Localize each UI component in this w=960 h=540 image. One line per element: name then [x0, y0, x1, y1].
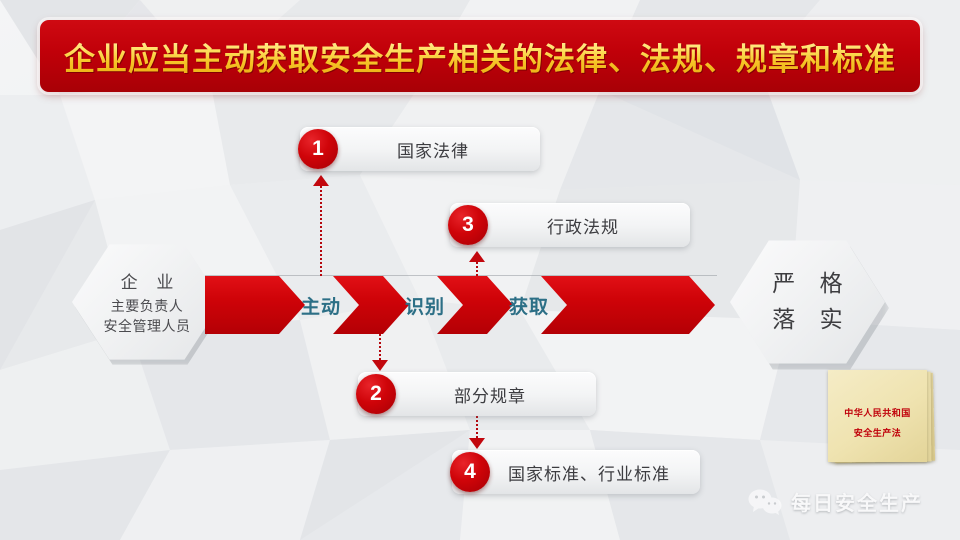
left-hexagon-title: 企 业	[114, 268, 181, 293]
right-hexagon-line2: 落 实	[763, 302, 851, 338]
callout-card-2[interactable]: 2 部分规章	[358, 372, 596, 416]
wechat-icon	[748, 488, 782, 516]
callout-badge-1: 1	[298, 129, 338, 169]
book-title-line2: 安全生产法	[828, 426, 927, 439]
law-book-icon: 中华人民共和国 安全生产法	[828, 368, 940, 464]
connector-arrowhead-to-callout-2	[372, 360, 388, 371]
book-page-front: 中华人民共和国 安全生产法	[828, 370, 927, 462]
book-title-line1: 中华人民共和国	[828, 406, 927, 419]
left-hexagon-line1: 主要负责人	[111, 296, 184, 316]
slide-canvas: 企业应当主动获取安全生产相关的法律、法规、规章和标准 企 业 主要负责人 安全管…	[0, 0, 960, 540]
connector-line-to-callout-3	[476, 262, 478, 276]
right-hexagon-line1: 严 格	[763, 266, 851, 302]
callout-card-3[interactable]: 3 行政法规	[450, 203, 690, 247]
connector-line-to-callout-2	[379, 334, 381, 360]
callout-badge-4: 4	[450, 452, 490, 492]
connector-line-to-callout-4	[476, 416, 478, 438]
callout-badge-2: 2	[356, 374, 396, 414]
chevron-segment-3	[541, 276, 715, 334]
connector-line-to-callout-1	[320, 186, 322, 276]
title-banner: 企业应当主动获取安全生产相关的法律、法规、规章和标准	[40, 20, 920, 92]
connector-arrowhead-to-callout-4	[469, 438, 485, 449]
process-arrow-chain: 主动 识别 获取	[205, 276, 715, 334]
page-title: 企业应当主动获取安全生产相关的法律、法规、规章和标准	[64, 34, 896, 79]
watermark-text: 每日安全生产	[791, 487, 923, 516]
callout-card-4[interactable]: 4 国家标准、行业标准	[452, 450, 700, 494]
connector-arrowhead-to-callout-1	[313, 175, 329, 186]
watermark: 每日安全生产	[748, 487, 923, 516]
connector-arrowhead-to-callout-3	[469, 251, 485, 262]
left-hexagon-line2: 安全管理人员	[104, 316, 191, 336]
callout-card-1[interactable]: 1 国家法律	[300, 127, 540, 171]
callout-badge-3: 3	[448, 205, 488, 245]
